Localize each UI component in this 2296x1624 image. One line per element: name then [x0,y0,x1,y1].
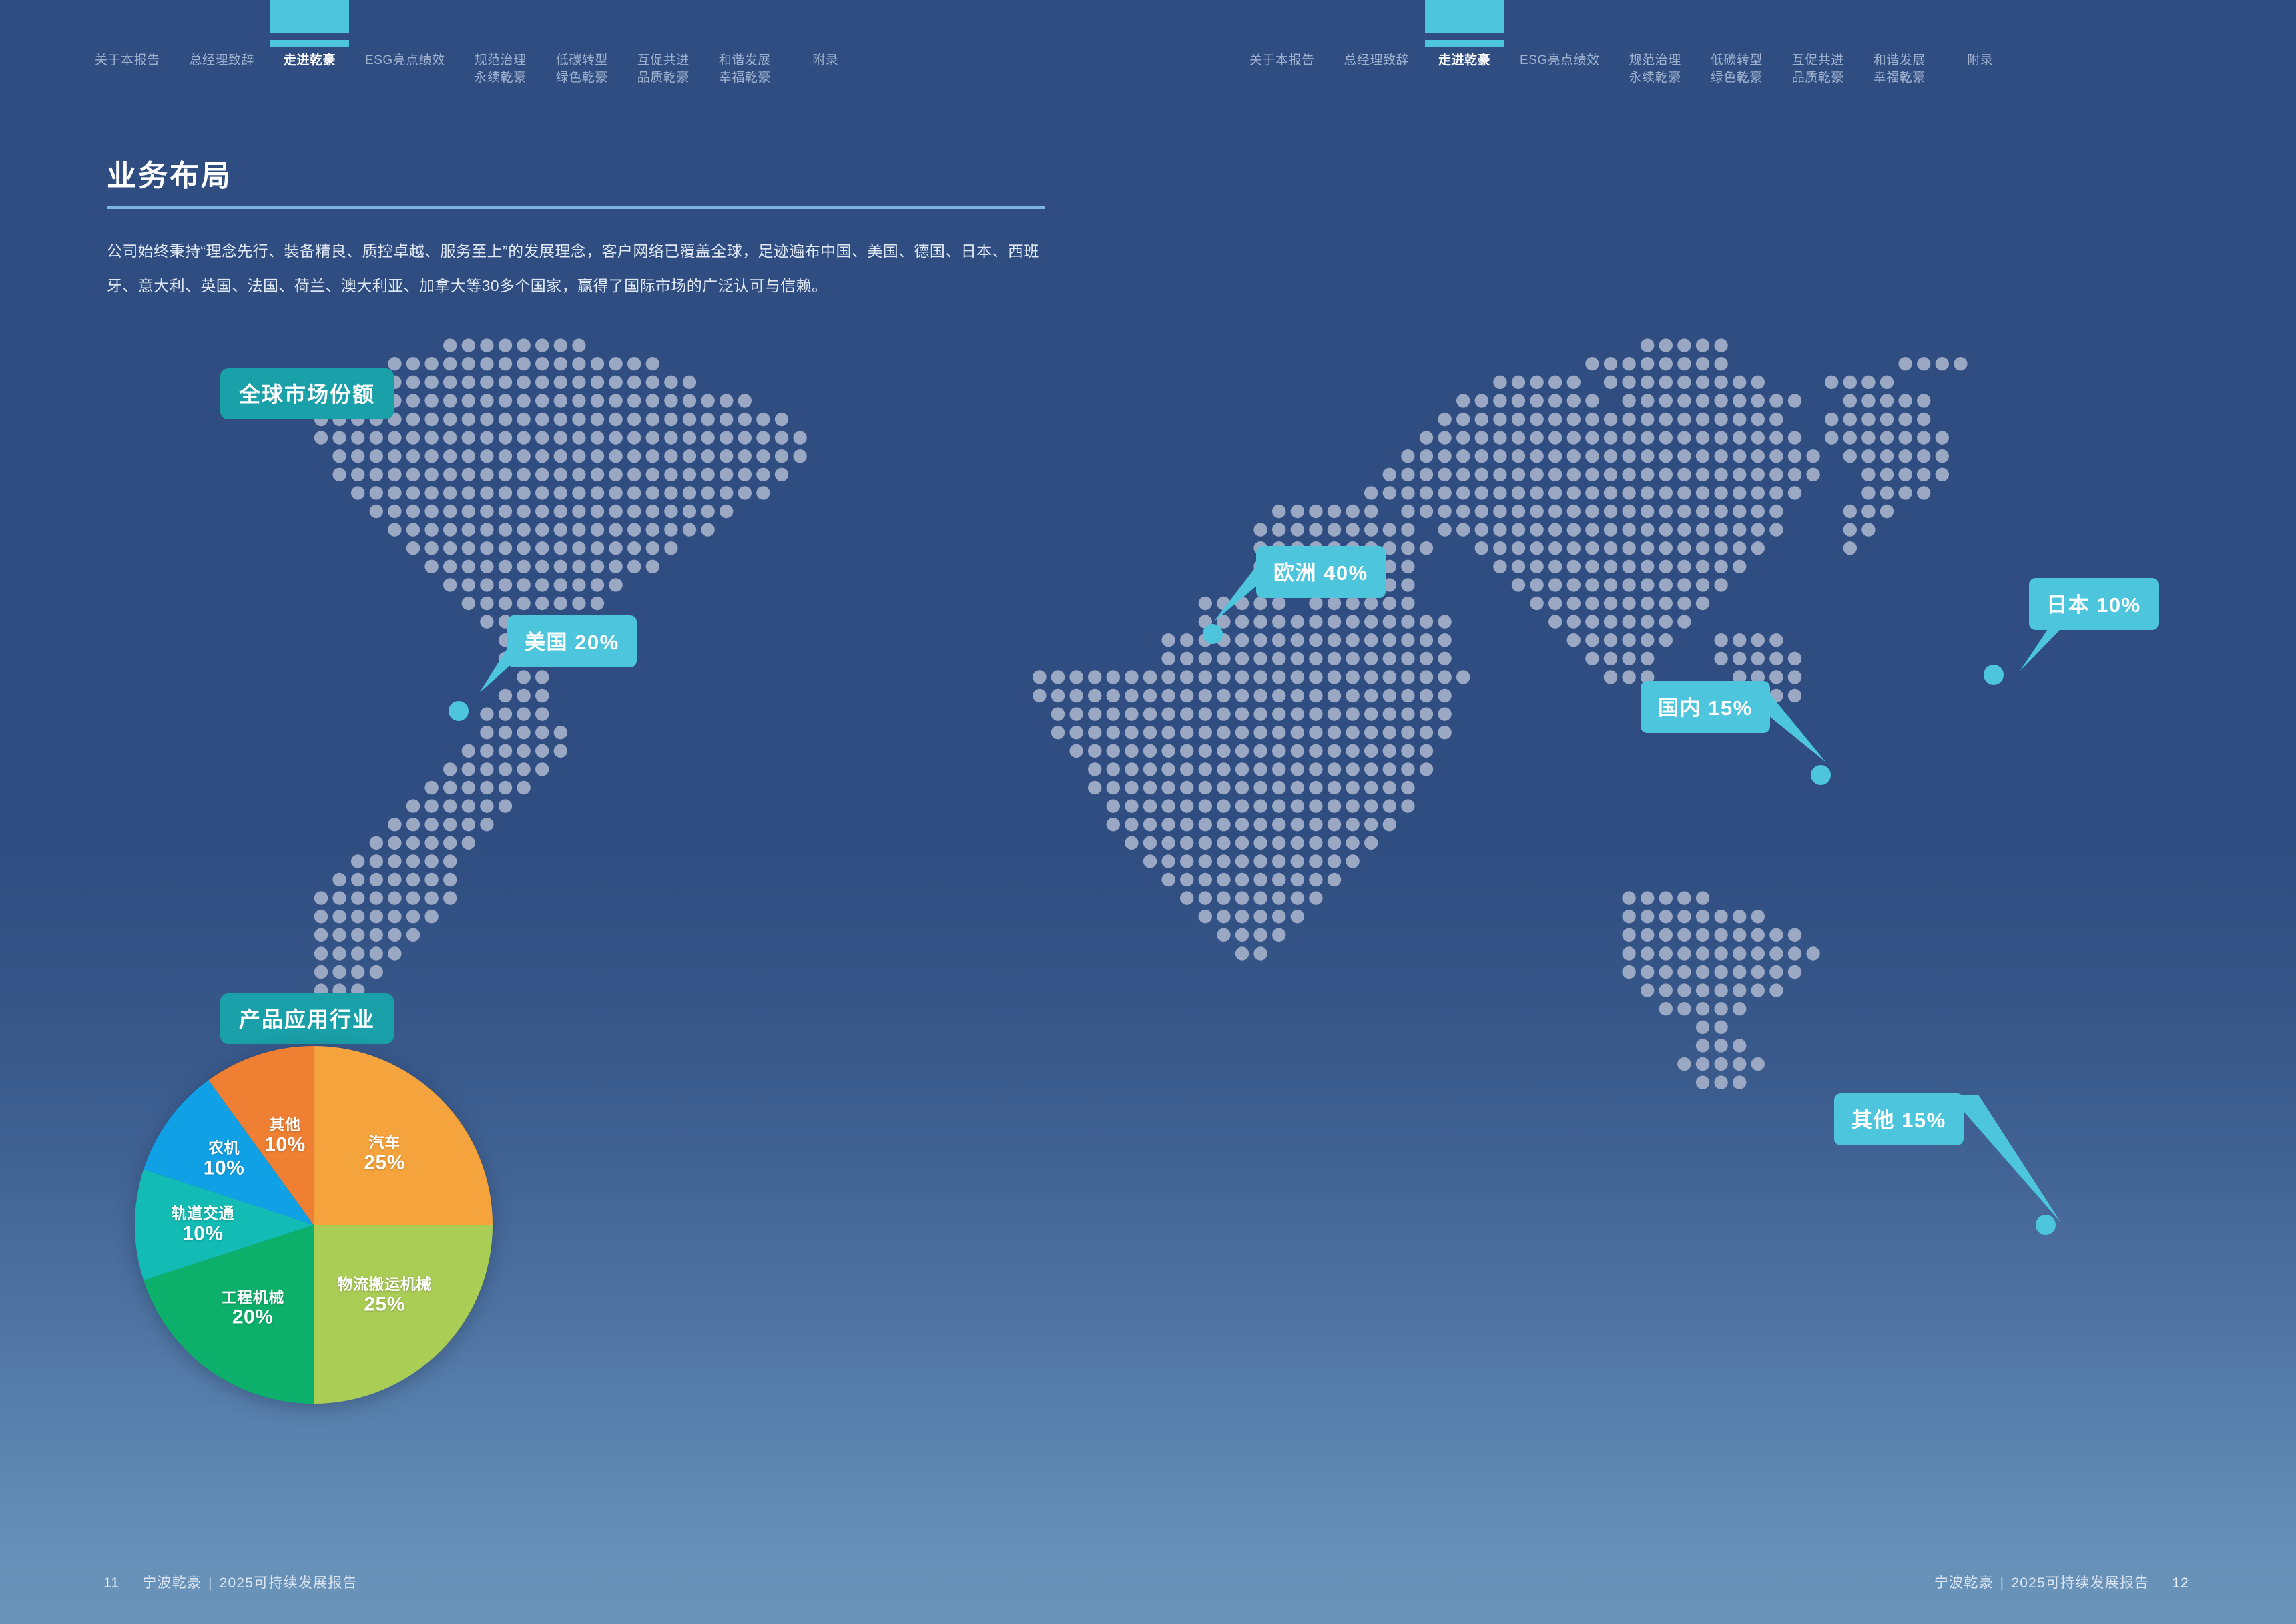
footer-report-right: 2025可持续发展报告 [2011,1575,2149,1591]
nav-label: ESG亮点绩效 [1520,53,1600,67]
footer-brand-right: 宁波乾豪 [1934,1575,1994,1591]
active-tab-block-icon [270,0,349,33]
nav-label: 低碳转型 [1711,53,1763,67]
badge-global-market-share: 全球市场份额 [220,368,394,419]
nav-item-4[interactable]: 规范治理 永续乾豪 [460,0,541,87]
nav-item-r2[interactable]: 走进乾豪 [1424,0,1505,69]
map-marker-japan[interactable] [1984,665,2004,685]
report-spread: 关于本报告 总经理致辞 走进乾豪 ESG亮点绩效 规范治理 永续乾豪 [0,0,2296,1624]
nav-item-8[interactable]: 附录 [786,0,866,69]
nav-label: ESG亮点绩效 [365,53,445,67]
nav-label: 规范治理 [1629,53,1681,67]
nav-item-r4[interactable]: 规范治理 永续乾豪 [1615,0,1696,87]
footer-report-left: 2025可持续发展报告 [220,1575,358,1591]
nav-item-r1[interactable]: 总经理致辞 [1330,0,1424,69]
footer-right: 宁波乾豪|2025可持续发展报告12 [1934,1572,2189,1592]
nav-item-r0[interactable]: 关于本报告 [1235,0,1330,69]
nav-label: 互促共进 [1792,53,1844,67]
top-navigation-right: 关于本报告 总经理致辞 走进乾豪 ESG亮点绩效 规范治理 永续乾豪 [1235,0,2020,107]
footer-separator-left: | [202,1575,220,1591]
page-number-left: 11 [103,1575,119,1591]
footer-separator-right: | [1994,1575,2012,1591]
nav-item-r3[interactable]: ESG亮点绩效 [1505,0,1615,69]
footer-left: 11宁波乾豪|2025可持续发展报告 [103,1572,358,1592]
nav-item-1[interactable]: 总经理致辞 [175,0,270,69]
nav-item-r8[interactable]: 附录 [1940,0,2020,69]
nav-label-line2: 品质乾豪 [1792,69,1844,87]
map-callout-usa[interactable]: 美国 20% [507,615,637,667]
nav-label-line2: 品质乾豪 [637,69,689,87]
section-heading: 业务布局 [107,158,1041,209]
map-callout-china[interactable]: 国内 15% [1641,681,1770,733]
map-marker-china[interactable] [1811,765,1831,785]
nav-label: 走进乾豪 [1438,53,1490,67]
map-marker-others[interactable] [2036,1215,2056,1235]
section-body-text: 公司始终秉持“理念先行、装备精良、质控卓越、服务至上”的发展理念，客户网络已覆盖… [107,234,1055,303]
nav-label-line2: 幸福乾豪 [1874,69,1926,87]
nav-label: 总经理致辞 [190,53,255,67]
title-divider [107,206,1045,209]
nav-item-6[interactable]: 互促共进 品质乾豪 [623,0,704,87]
active-tab-block-icon [1425,0,1504,33]
nav-item-7[interactable]: 和谐发展 幸福乾豪 [704,0,786,87]
map-callout-others[interactable]: 其他 15% [1834,1093,1964,1145]
nav-label: 和谐发展 [719,53,771,67]
nav-label-line2: 绿色乾豪 [556,69,608,87]
nav-item-r7[interactable]: 和谐发展 幸福乾豪 [1859,0,1940,87]
nav-label: 关于本报告 [1249,53,1315,67]
map-marker-usa[interactable] [449,701,469,721]
pie-chart-svg [133,1045,494,1405]
nav-label: 互促共进 [637,53,689,67]
nav-label: 规范治理 [475,53,527,67]
nav-item-r6[interactable]: 互促共进 品质乾豪 [1777,0,1859,87]
page-number-right: 12 [2172,1575,2189,1591]
nav-item-r5[interactable]: 低碳转型 绿色乾豪 [1696,0,1777,87]
nav-label: 附录 [1967,53,1993,67]
map-marker-europe[interactable] [1203,624,1223,644]
nav-label: 附录 [812,53,838,67]
active-tab-underline-icon [270,40,349,47]
nav-item-5[interactable]: 低碳转型 绿色乾豪 [541,0,623,87]
nav-label: 和谐发展 [1874,53,1926,67]
nav-label: 关于本报告 [95,53,160,67]
nav-item-0[interactable]: 关于本报告 [80,0,175,69]
nav-label-line2: 绿色乾豪 [1711,69,1763,87]
map-callout-japan[interactable]: 日本 10% [2029,578,2159,630]
page-title: 业务布局 [107,158,1041,195]
active-tab-underline-icon [1425,40,1504,47]
nav-label: 总经理致辞 [1344,53,1410,67]
nav-label-line2: 永续乾豪 [1629,69,1681,87]
top-navigation-left: 关于本报告 总经理致辞 走进乾豪 ESG亮点绩效 规范治理 永续乾豪 [80,0,866,107]
badge-product-industry: 产品应用行业 [220,993,394,1044]
nav-label-line2: 永续乾豪 [475,69,527,87]
product-industry-pie-chart: 汽车 25% 物流搬运机械 25% 工程机械 20% 轨道交通 10% 农机 1… [133,1045,494,1405]
nav-item-3[interactable]: ESG亮点绩效 [350,0,460,69]
footer-brand-left: 宁波乾豪 [142,1575,202,1591]
nav-label-line2: 幸福乾豪 [719,69,771,87]
map-callout-europe[interactable]: 欧洲 40% [1256,546,1386,598]
nav-label: 低碳转型 [556,53,608,67]
nav-label: 走进乾豪 [284,53,336,67]
nav-item-2[interactable]: 走进乾豪 [269,0,350,69]
